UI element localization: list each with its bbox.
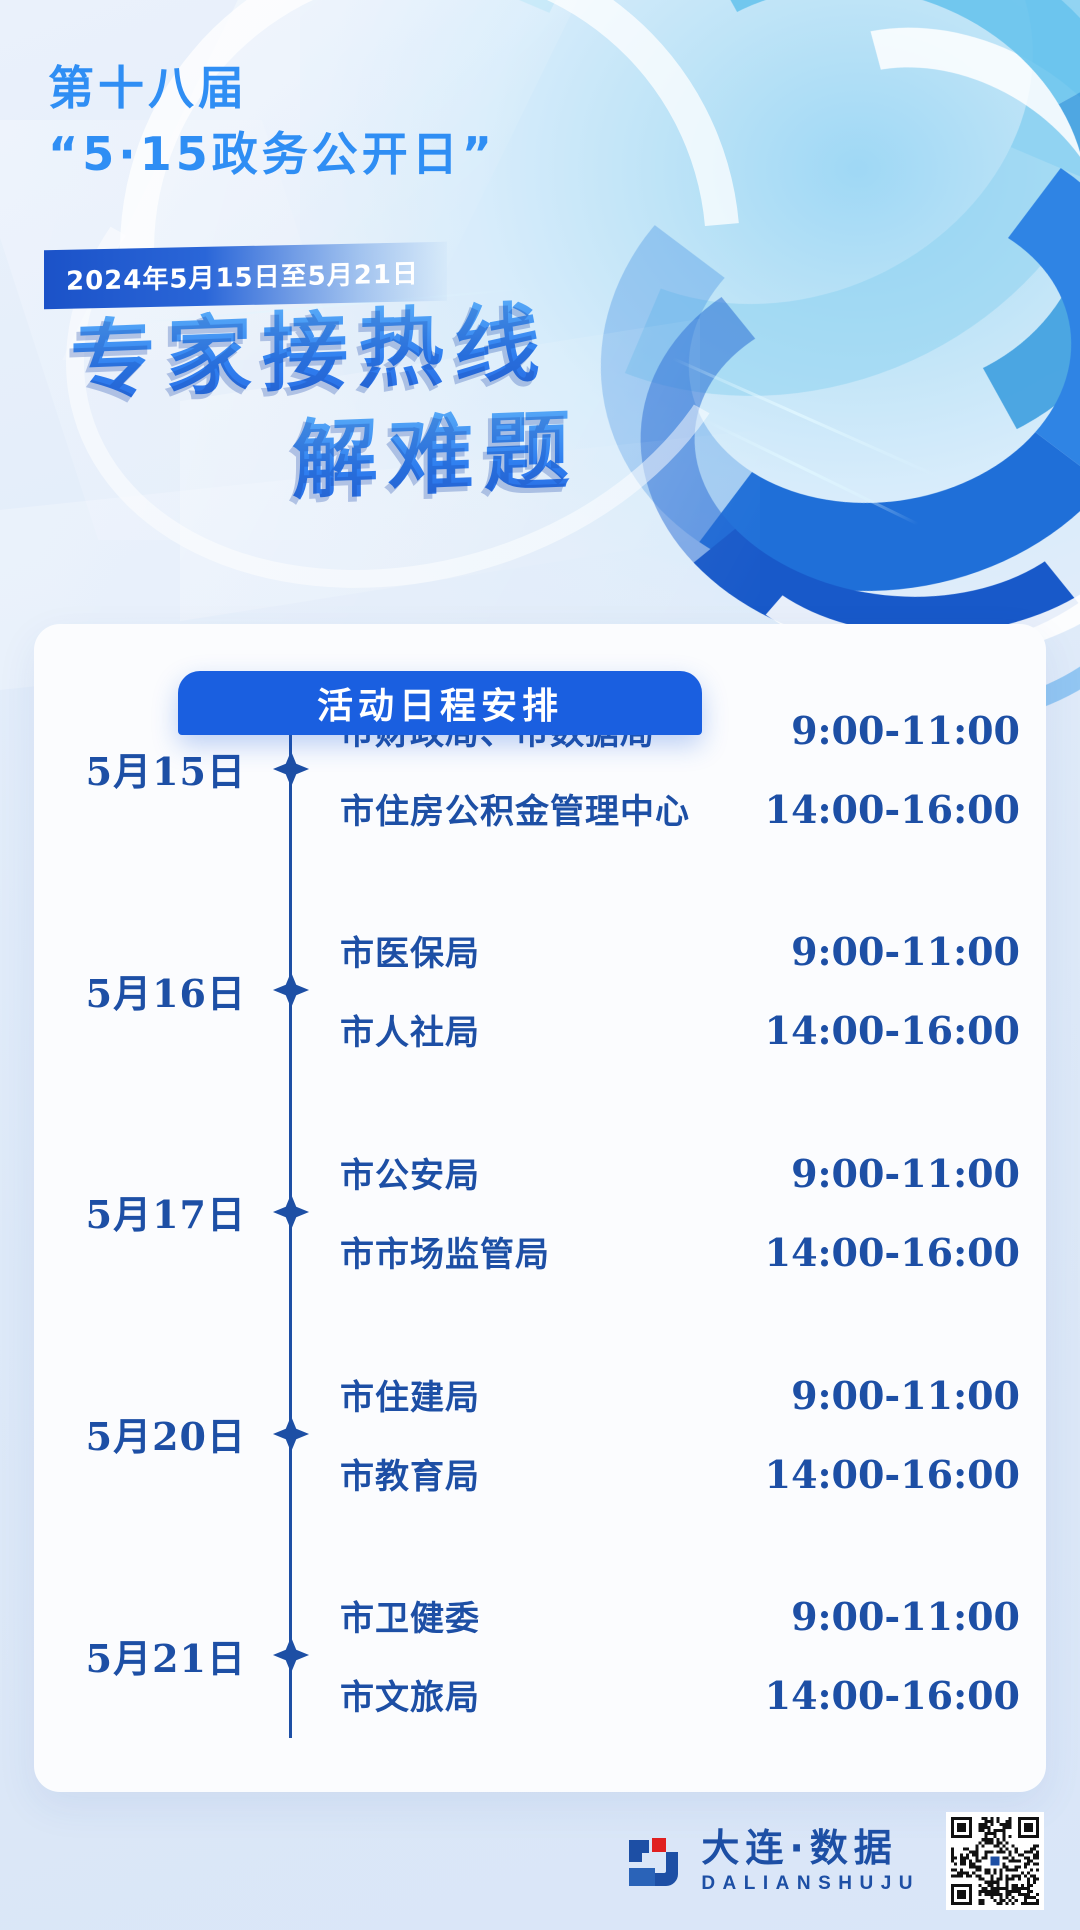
star-marker-icon bbox=[272, 971, 310, 1009]
schedule-row: 5月21日市卫健委9:00-11:00市文旅局14:00-16:00 bbox=[34, 1544, 1046, 1766]
star-marker-icon bbox=[272, 1193, 310, 1231]
timeline-column bbox=[262, 1544, 318, 1766]
event-item: 市人社局14:00-16:00 bbox=[340, 1005, 1020, 1054]
brand-logo: 大连·数据 DALIANSHUJU bbox=[625, 1829, 920, 1893]
event-time: 14:00-16:00 bbox=[684, 1452, 1020, 1497]
dalian-logo-icon bbox=[625, 1832, 683, 1890]
header-block: 第十八届 “5·15政务公开日” bbox=[48, 60, 496, 183]
schedule-banner: 活动日程安排 bbox=[178, 671, 702, 735]
timeline-column bbox=[262, 1323, 318, 1545]
star-marker-icon bbox=[272, 1636, 310, 1674]
event-time: 9:00-11:00 bbox=[684, 1594, 1020, 1639]
event-time: 14:00-16:00 bbox=[684, 1008, 1020, 1053]
headline-line-1: 专家接热线 bbox=[70, 283, 960, 407]
poster-root: 第十八届 “5·15政务公开日” 2024年5月15日至5月21日 专家接热线 … bbox=[0, 0, 1080, 1930]
event-item: 市住建局9:00-11:00 bbox=[340, 1370, 1020, 1419]
event-item: 市教育局14:00-16:00 bbox=[340, 1449, 1020, 1498]
event-item: 市住房公积金管理中心14:00-16:00 bbox=[340, 784, 1020, 833]
poster-headline: 专家接热线 解难题 bbox=[60, 300, 960, 495]
event-department: 市教育局 bbox=[340, 1449, 684, 1498]
schedule-banner-label: 活动日程安排 bbox=[317, 677, 563, 729]
schedule-date: 5月16日 bbox=[52, 963, 262, 1018]
event-time: 14:00-16:00 bbox=[684, 1673, 1020, 1718]
event-item: 市文旅局14:00-16:00 bbox=[340, 1670, 1020, 1719]
brand-name-en: DALIANSHUJU bbox=[701, 1874, 920, 1893]
kicker-line-1: 第十八届 bbox=[48, 61, 248, 115]
event-department: 市住建局 bbox=[340, 1370, 684, 1419]
event-department: 市人社局 bbox=[340, 1005, 684, 1054]
event-list: 市公安局9:00-11:00市市场监管局14:00-16:00 bbox=[318, 1148, 1020, 1276]
event-list: 市医保局9:00-11:00市人社局14:00-16:00 bbox=[318, 926, 1020, 1054]
schedule-row: 5月20日市住建局9:00-11:00市教育局14:00-16:00 bbox=[34, 1323, 1046, 1545]
event-department: 市市场监管局 bbox=[340, 1227, 684, 1276]
event-time: 9:00-11:00 bbox=[684, 1373, 1020, 1418]
event-department: 市卫健委 bbox=[340, 1591, 684, 1640]
schedule-date: 5月15日 bbox=[52, 741, 262, 796]
event-item: 市公安局9:00-11:00 bbox=[340, 1148, 1020, 1197]
footer-bar: 大连·数据 DALIANSHUJU bbox=[0, 1792, 1080, 1930]
timeline-column bbox=[262, 1101, 318, 1323]
event-item: 市卫健委9:00-11:00 bbox=[340, 1591, 1020, 1640]
schedule-rows: 5月15日市财政局、市数据局9:00-11:00市住房公积金管理中心14:00-… bbox=[34, 658, 1046, 1766]
event-list: 市住建局9:00-11:00市教育局14:00-16:00 bbox=[318, 1370, 1020, 1498]
headline-line-2: 解难题 bbox=[292, 391, 960, 507]
schedule-date: 5月20日 bbox=[52, 1406, 262, 1461]
event-department: 市住房公积金管理中心 bbox=[340, 784, 690, 833]
brand-name-cn: 大连·数据 bbox=[701, 1829, 920, 1867]
kicker-line-2: “5·15政务公开日” bbox=[48, 126, 496, 184]
star-marker-icon bbox=[272, 750, 310, 788]
event-department: 市医保局 bbox=[340, 926, 684, 975]
schedule-date: 5月21日 bbox=[52, 1628, 262, 1683]
event-item: 市医保局9:00-11:00 bbox=[340, 926, 1020, 975]
kicker-text: 第十八届 “5·15政务公开日” bbox=[48, 60, 496, 183]
brand-text: 大连·数据 DALIANSHUJU bbox=[701, 1829, 920, 1893]
event-time: 14:00-16:00 bbox=[684, 1230, 1020, 1275]
star-marker-icon bbox=[272, 1415, 310, 1453]
event-time: 9:00-11:00 bbox=[684, 1151, 1020, 1196]
schedule-card: 5月15日市财政局、市数据局9:00-11:00市住房公积金管理中心14:00-… bbox=[34, 624, 1046, 1792]
event-item: 市市场监管局14:00-16:00 bbox=[340, 1227, 1020, 1276]
event-department: 市文旅局 bbox=[340, 1670, 684, 1719]
event-time: 14:00-16:00 bbox=[690, 787, 1020, 832]
schedule-row: 5月16日市医保局9:00-11:00市人社局14:00-16:00 bbox=[34, 880, 1046, 1102]
event-time: 9:00-11:00 bbox=[684, 708, 1020, 753]
timeline-column bbox=[262, 880, 318, 1102]
event-time: 9:00-11:00 bbox=[684, 929, 1020, 974]
schedule-row: 5月17日市公安局9:00-11:00市市场监管局14:00-16:00 bbox=[34, 1101, 1046, 1323]
event-department: 市公安局 bbox=[340, 1148, 684, 1197]
qr-code[interactable] bbox=[946, 1812, 1044, 1910]
event-list: 市卫健委9:00-11:00市文旅局14:00-16:00 bbox=[318, 1591, 1020, 1719]
schedule-date: 5月17日 bbox=[52, 1184, 262, 1239]
